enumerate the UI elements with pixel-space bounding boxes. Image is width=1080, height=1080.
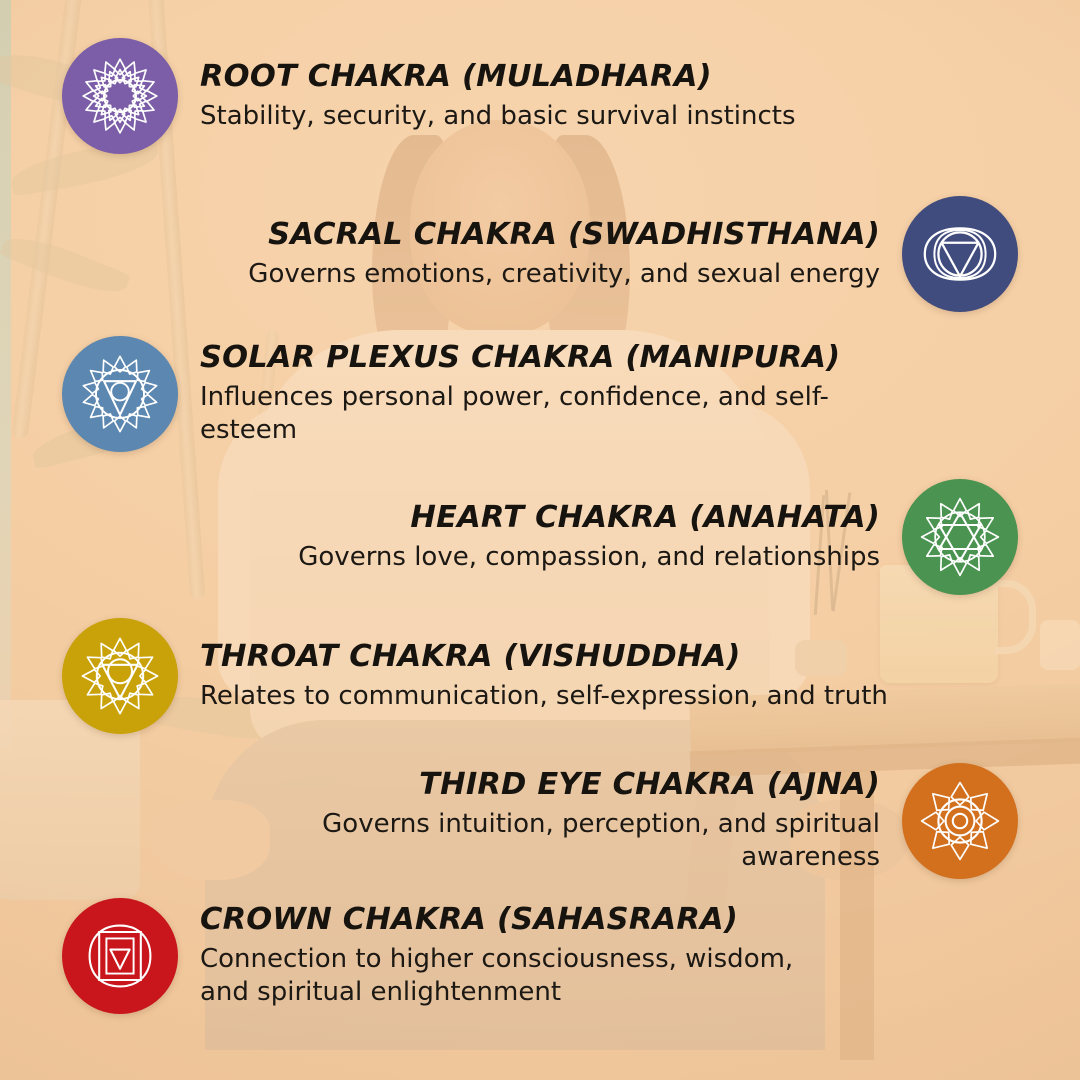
chakra-row-root: ROOT CHAKRA (MULADHARA)Stability, securi… — [62, 38, 796, 154]
two-petal-triangle-chakra-icon — [920, 214, 1000, 294]
chakra-row-sacral: SACRAL CHAKRA (SWADHISTHANA)Governs emot… — [248, 196, 1018, 312]
chakra-text-block: THIRD EYE CHAKRA (AJNA)Governs intuition… — [180, 768, 880, 874]
chakra-title: ROOT CHAKRA (MULADHARA) — [200, 60, 796, 94]
chakra-text-block: SOLAR PLEXUS CHAKRA (MANIPURA)Influences… — [200, 341, 900, 447]
lotus-ring-chakra-icon — [80, 56, 160, 136]
chakra-row-solar-plexus: SOLAR PLEXUS CHAKRA (MANIPURA)Influences… — [62, 336, 900, 452]
chakra-text-block: CROWN CHAKRA (SAHASRARA)Connection to hi… — [200, 903, 840, 1009]
chakra-row-list: ROOT CHAKRA (MULADHARA)Stability, securi… — [0, 0, 1080, 1080]
chakra-infographic-poster: ROOT CHAKRA (MULADHARA)Stability, securi… — [0, 0, 1080, 1080]
chakra-description: Governs emotions, creativity, and sexual… — [248, 258, 880, 291]
chakra-row-throat: THROAT CHAKRA (VISHUDDHA)Relates to comm… — [62, 618, 888, 734]
chakra-text-block: THROAT CHAKRA (VISHUDDHA)Relates to comm… — [200, 640, 888, 713]
chakra-row-heart: HEART CHAKRA (ANAHATA)Governs love, comp… — [298, 479, 1018, 595]
chakra-text-block: HEART CHAKRA (ANAHATA)Governs love, comp… — [298, 501, 880, 574]
chakra-badge-solar-plexus — [62, 336, 178, 452]
chakra-text-block: ROOT CHAKRA (MULADHARA)Stability, securi… — [200, 60, 796, 133]
chakra-text-block: SACRAL CHAKRA (SWADHISTHANA)Governs emot… — [248, 218, 880, 291]
chakra-badge-root — [62, 38, 178, 154]
six-petal-concentric-chakra-icon — [920, 781, 1000, 861]
chakra-description: Governs intuition, perception, and spiri… — [180, 808, 880, 874]
chakra-title: CROWN CHAKRA (SAHASRARA) — [200, 903, 840, 937]
chakra-row-third-eye: THIRD EYE CHAKRA (AJNA)Governs intuition… — [180, 763, 1018, 879]
chakra-description: Relates to communication, self-expressio… — [200, 680, 888, 713]
chakra-badge-heart — [902, 479, 1018, 595]
chakra-title: SACRAL CHAKRA (SWADHISTHANA) — [248, 218, 880, 252]
chakra-badge-throat — [62, 618, 178, 734]
hexagram-lotus-chakra-icon — [920, 497, 1000, 577]
chakra-title: THROAT CHAKRA (VISHUDDHA) — [200, 640, 888, 674]
chakra-description: Stability, security, and basic survival … — [200, 100, 796, 133]
chakra-description: Influences personal power, confidence, a… — [200, 381, 900, 447]
chakra-description: Connection to higher consciousness, wisd… — [200, 943, 840, 1009]
chakra-row-crown: CROWN CHAKRA (SAHASRARA)Connection to hi… — [62, 898, 840, 1014]
chakra-title: HEART CHAKRA (ANAHATA) — [298, 501, 880, 535]
chakra-badge-third-eye — [902, 763, 1018, 879]
lotus-triangle-chakra-icon — [80, 354, 160, 434]
square-petal-triangle-chakra-icon — [80, 916, 160, 996]
chakra-description: Governs love, compassion, and relationsh… — [298, 541, 880, 574]
chakra-badge-crown — [62, 898, 178, 1014]
chakra-title: SOLAR PLEXUS CHAKRA (MANIPURA) — [200, 341, 900, 375]
chakra-title: THIRD EYE CHAKRA (AJNA) — [180, 768, 880, 802]
lotus-circle-triangle-chakra-icon — [80, 636, 160, 716]
chakra-badge-sacral — [902, 196, 1018, 312]
